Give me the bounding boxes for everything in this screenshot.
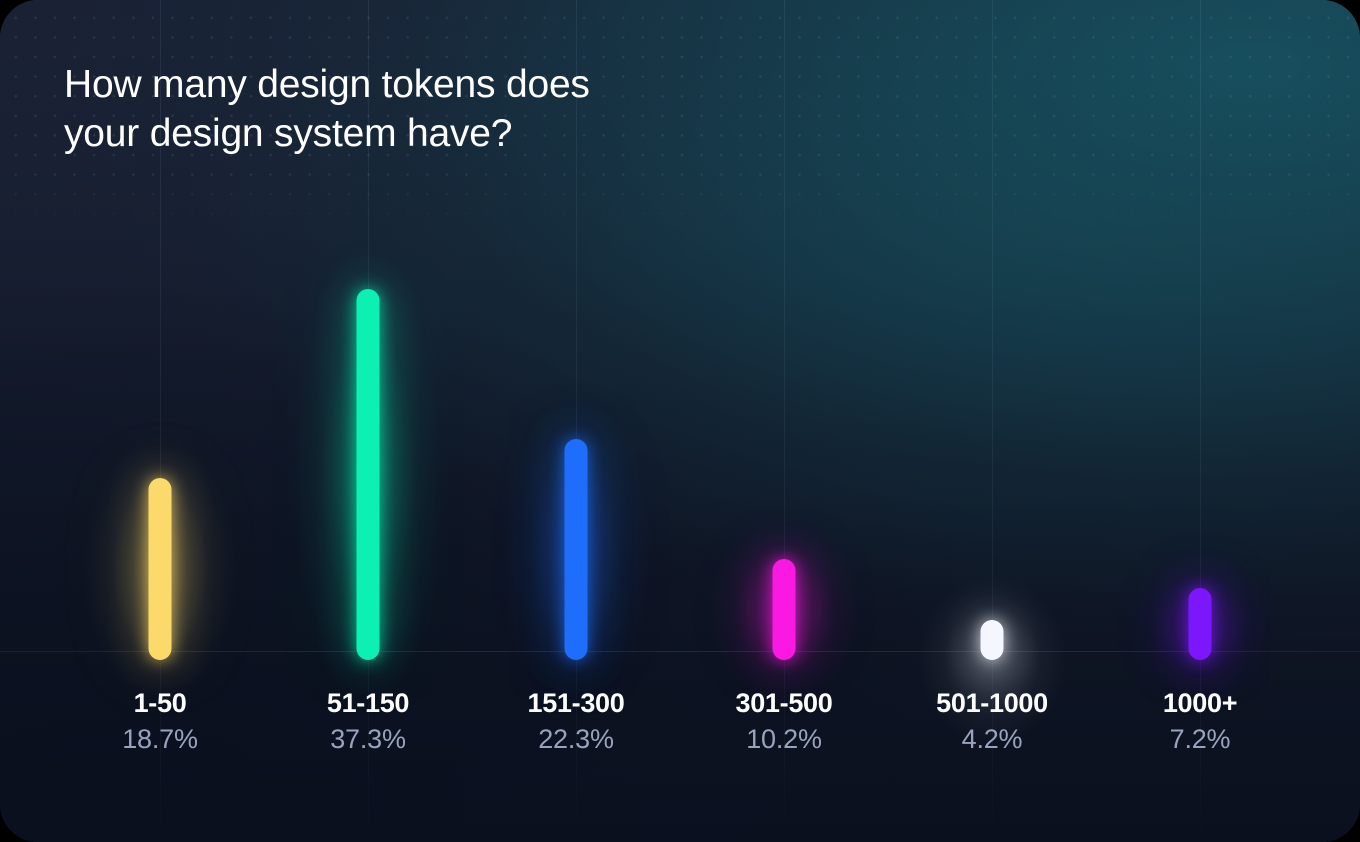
axis-label-group-151-300: 151-30022.3% bbox=[472, 686, 680, 758]
bar-501-1000[interactable] bbox=[981, 620, 1004, 660]
category-label: 301-500 bbox=[680, 686, 888, 720]
chart-panel: How many design tokens does your design … bbox=[0, 0, 1360, 842]
category-label: 501-1000 bbox=[888, 686, 1096, 720]
percentage-label: 10.2% bbox=[680, 720, 888, 758]
percentage-label: 37.3% bbox=[264, 720, 472, 758]
axis-label-group-1-50: 1-5018.7% bbox=[56, 686, 264, 758]
percentage-label: 22.3% bbox=[472, 720, 680, 758]
bar-151-300[interactable] bbox=[565, 439, 588, 660]
percentage-label: 4.2% bbox=[888, 720, 1096, 758]
percentage-label: 18.7% bbox=[56, 720, 264, 758]
axis-label-group-501-1000: 501-10004.2% bbox=[888, 686, 1096, 758]
bar-51-150[interactable] bbox=[357, 289, 380, 660]
screenshot-stage: How many design tokens does your design … bbox=[0, 0, 1360, 842]
axis-label-group-51-150: 51-15037.3% bbox=[264, 686, 472, 758]
axis-label-group-301-500: 301-50010.2% bbox=[680, 686, 888, 758]
category-label: 51-150 bbox=[264, 686, 472, 720]
category-label: 1-50 bbox=[56, 686, 264, 720]
bar-301-500[interactable] bbox=[773, 559, 796, 660]
axis-label-group-1000+: 1000+7.2% bbox=[1096, 686, 1304, 758]
category-label: 1000+ bbox=[1096, 686, 1304, 720]
bar-1000+[interactable] bbox=[1189, 588, 1212, 660]
category-label: 151-300 bbox=[472, 686, 680, 720]
percentage-label: 7.2% bbox=[1096, 720, 1304, 758]
bar-1-50[interactable] bbox=[149, 478, 172, 660]
